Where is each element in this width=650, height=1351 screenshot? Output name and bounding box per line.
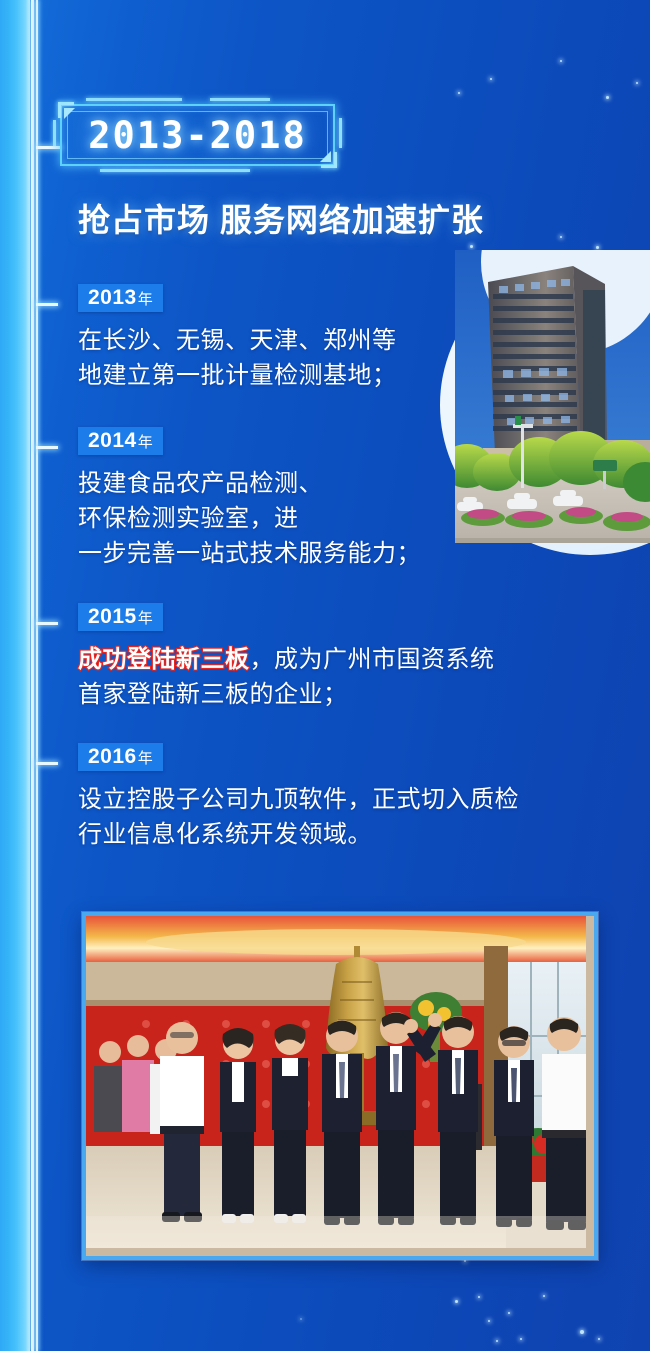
- office-building-photo: [455, 250, 650, 543]
- year-number: 2014: [88, 429, 137, 452]
- timeline-entry-2014: 2014年 投建食品农产品检测、 环保检测实验室，进 一步完善一站式技术服务能力…: [78, 427, 421, 571]
- entry-body-2013: 在长沙、无锡、天津、郑州等 地建立第一批计量检测基地；: [78, 323, 397, 393]
- era-notch-right: [339, 118, 342, 148]
- year-number: 2013: [88, 286, 137, 309]
- timeline-tick-2015: [36, 622, 58, 625]
- left-edge-line: [31, 0, 34, 1351]
- timeline-tick-2016: [36, 762, 58, 765]
- year-badge-2014: 2014年: [78, 427, 163, 455]
- year-badge-2016: 2016年: [78, 743, 163, 771]
- timeline-tick-2014: [36, 446, 58, 449]
- year-number: 2016: [88, 745, 137, 768]
- entry-body-2014: 投建食品农产品检测、 环保检测实验室，进 一步完善一站式技术服务能力；: [78, 466, 421, 571]
- page-title: 抢占市场 服务网络加速扩张: [78, 195, 598, 241]
- timeline-entry-2016: 2016年 设立控股子公司九顶软件，正式切入质检 行业信息化系统开发领域。: [78, 743, 519, 852]
- group-photo-bell-ceremony: [82, 912, 598, 1260]
- timeline-tick-era: [36, 146, 62, 149]
- year-number: 2015: [88, 605, 137, 628]
- timeline-entry-2013: 2013年 在长沙、无锡、天津、郑州等 地建立第一批计量检测基地；: [78, 284, 397, 393]
- era-label: 2013-2018: [60, 104, 335, 166]
- timeline-tick-2013: [36, 303, 58, 306]
- year-suffix: 年: [138, 750, 153, 767]
- year-suffix: 年: [138, 291, 153, 308]
- timeline-entry-2015: 2015年 成功登陆新三板，成为广州市国资系统 首家登陆新三板的企业；: [78, 603, 495, 712]
- year-badge-2015: 2015年: [78, 603, 163, 631]
- timeline-vertical-rule: [36, 0, 38, 1351]
- era-notch-top: [86, 98, 182, 101]
- era-notch-left: [53, 120, 56, 146]
- left-edge-glow: [0, 0, 30, 1351]
- entry-body-2016: 设立控股子公司九顶软件，正式切入质检 行业信息化系统开发领域。: [78, 782, 519, 852]
- year-suffix: 年: [138, 610, 153, 627]
- highlight-text-2015: 成功登陆新三板: [78, 646, 250, 673]
- poster-root: 2013-2018 抢占市场 服务网络加速扩张: [0, 0, 650, 1351]
- era-notch-bottom: [100, 169, 250, 172]
- year-suffix: 年: [138, 434, 153, 451]
- era-badge: 2013-2018: [60, 104, 335, 166]
- era-notch-top-2: [210, 98, 270, 101]
- entry-body-2015: 成功登陆新三板，成为广州市国资系统 首家登陆新三板的企业；: [78, 642, 495, 712]
- year-badge-2013: 2013年: [78, 284, 163, 312]
